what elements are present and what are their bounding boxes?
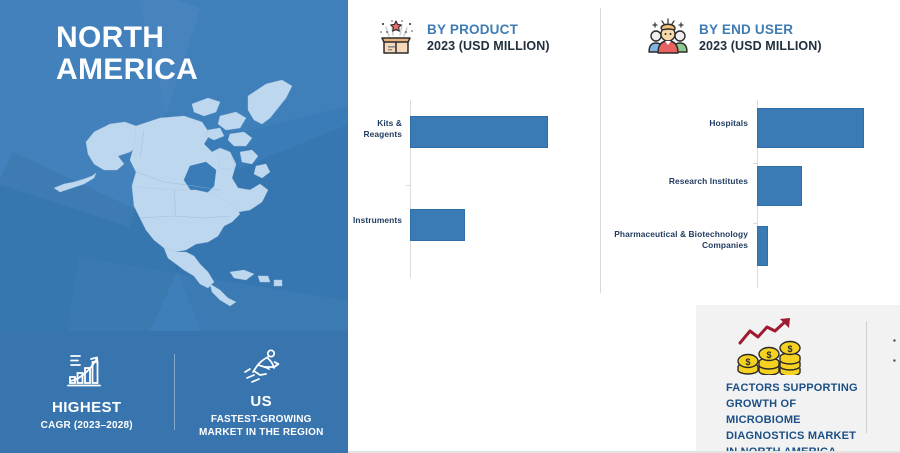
axis-tick [406, 185, 410, 186]
region-panel: NORTH AMERICA [0, 0, 348, 453]
charts-row: BY PRODUCT 2023 (USD MILLION) Kits & Rea… [348, 0, 900, 305]
region-title: NORTH AMERICA [56, 22, 198, 87]
chart-header: BY PRODUCT 2023 (USD MILLION) [348, 16, 600, 60]
open-box-icon [374, 16, 418, 60]
north-america-map-icon [24, 60, 344, 310]
stat-value: US [250, 393, 272, 410]
factors-title: FACTORS SUPPORTING GROWTH OF MICROBIOME … [726, 381, 858, 453]
bar-chart-growth-icon [64, 351, 110, 391]
stat-highest-cagr: HIGHEST CAGR (2023–2028) [0, 351, 174, 433]
chart-header-text: BY PRODUCT 2023 (USD MILLION) [427, 22, 550, 55]
charts-area: BY PRODUCT 2023 (USD MILLION) Kits & Rea… [348, 0, 900, 453]
axis-tick [753, 163, 757, 164]
list-item: ▪ The presence of top academic instituti… [893, 353, 900, 404]
factors-block: $ $ [696, 305, 866, 453]
bar-label: Instruments [348, 215, 402, 226]
chart-subtitle: 2023 (USD MILLION) [699, 39, 822, 55]
bar-kits-reagents [410, 116, 548, 148]
bar-label: Kits & Reagents [348, 118, 402, 141]
chart-subtitle: 2023 (USD MILLION) [427, 39, 550, 55]
chart-header-text: BY END USER 2023 (USD MILLION) [699, 22, 822, 55]
chart-by-product: BY PRODUCT 2023 (USD MILLION) Kits & Rea… [348, 0, 600, 305]
stat-label: FASTEST-GROWING MARKET IN THE REGION [199, 413, 324, 440]
bar-research-institutes [757, 166, 802, 206]
bar-pharmaceutical-biotechnology-companies [757, 226, 768, 266]
stat-label: CAGR (2023–2028) [41, 419, 133, 433]
svg-text:$: $ [766, 350, 771, 360]
bullet-icon: ▪ [893, 353, 896, 404]
footer-factors-section: $ $ [696, 305, 900, 453]
bar-hospitals [757, 108, 864, 148]
factors-bullet-list: ▪ Rising prevalence of diseases ▪ The pr… [867, 305, 900, 453]
bullet-icon: ▪ [893, 333, 896, 350]
chart-title: BY PRODUCT [427, 22, 550, 39]
chart-header: BY END USER 2023 (USD MILLION) [600, 16, 900, 60]
rocket-person-icon [238, 345, 284, 385]
stat-value: HIGHEST [52, 399, 121, 416]
svg-text:$: $ [787, 344, 792, 354]
axis-tick [753, 223, 757, 224]
stat-fastest-growing: US FASTEST-GROWING MARKET IN THE REGION [175, 345, 349, 440]
bar-label: Research Institutes [610, 176, 748, 187]
infographic-root: NORTH AMERICA [0, 0, 900, 453]
bar-label: Pharmaceutical & Biotechnology Companies [610, 229, 748, 252]
bar-instruments [410, 209, 465, 241]
chart-by-end-user: BY END USER 2023 (USD MILLION) Hospitals… [600, 0, 900, 305]
bar-label: Hospitals [610, 118, 748, 129]
region-stats-strip: HIGHEST CAGR (2023–2028) [0, 331, 348, 453]
chart-title: BY END USER [699, 22, 822, 39]
chart-panel-divider [600, 8, 601, 293]
svg-text:$: $ [745, 357, 750, 367]
list-item: ▪ Rising prevalence of diseases [893, 333, 900, 350]
people-group-icon [646, 16, 690, 60]
money-growth-chart-icon: $ $ [734, 317, 808, 375]
